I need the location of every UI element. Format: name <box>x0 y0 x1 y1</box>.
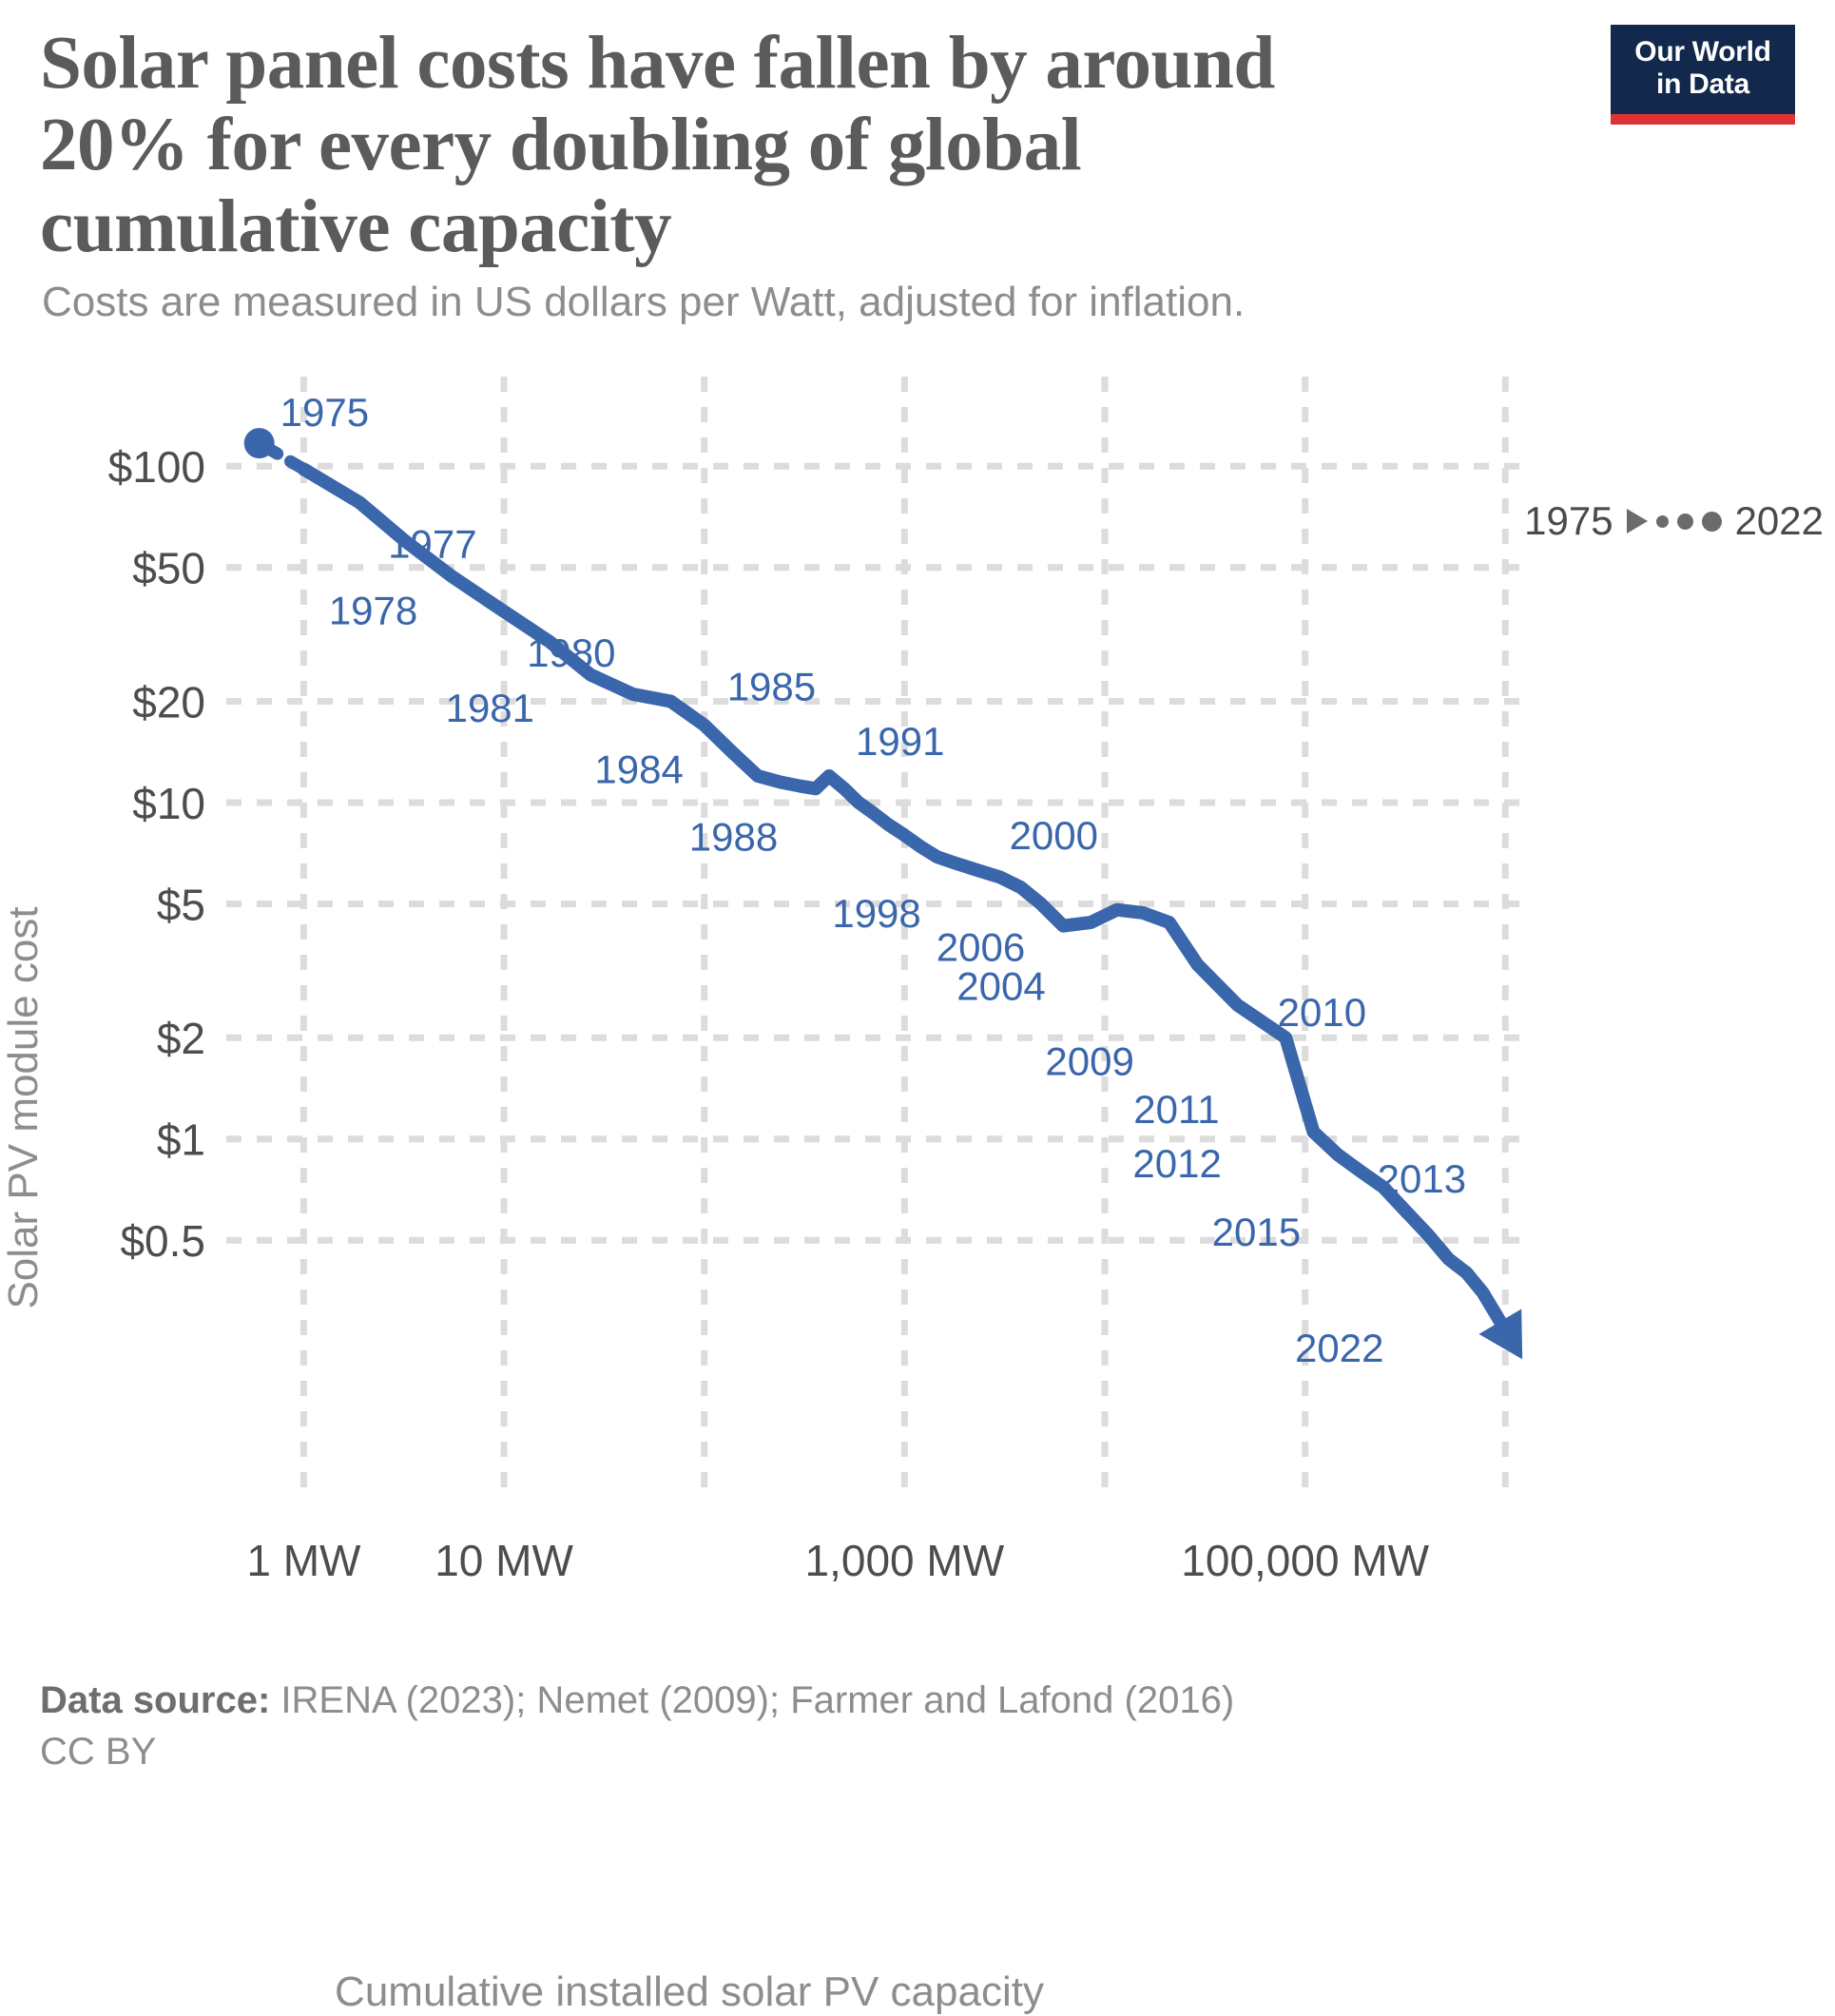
data-point-label: 1981 <box>446 686 534 730</box>
data-point-label: 1984 <box>594 746 683 791</box>
data-source-text: IRENA (2023); Nemet (2009); Farmer and L… <box>270 1679 1234 1721</box>
chart-page: Solar panel costs have fallen by around … <box>0 0 1835 1798</box>
y-tick-label: $2 <box>157 1014 205 1063</box>
data-point-label: 2000 <box>1010 813 1098 858</box>
x-axis-title: Cumulative installed solar PV capacity <box>0 1968 1379 2016</box>
owid-logo[interactable]: Our World in Data <box>1611 25 1795 125</box>
data-point-label: 2015 <box>1212 1210 1301 1254</box>
y-tick-label: $1 <box>157 1115 205 1165</box>
y-tick-label: $5 <box>157 880 205 929</box>
page-title: Solar panel costs have fallen by around … <box>40 23 1438 268</box>
y-tick-label: $100 <box>108 442 205 492</box>
owid-logo-line1: Our World <box>1616 36 1789 68</box>
data-point-label: 1980 <box>527 630 615 675</box>
data-point-label: 1975 <box>280 390 369 435</box>
owid-logo-line2: in Data <box>1616 68 1789 101</box>
x-tick-label: 100,000 MW <box>1181 1536 1429 1585</box>
page-subtitle: Costs are measured in US dollars per Wat… <box>42 278 1468 327</box>
data-point-label: 1998 <box>832 891 920 936</box>
data-point-label: 2011 <box>1133 1087 1219 1132</box>
y-tick-label: $50 <box>132 544 205 593</box>
data-point-label: 1985 <box>727 664 816 708</box>
data-source-label: Data source: <box>40 1679 270 1721</box>
chart-svg: $100$50$20$10$5$2$1$0.51 MW10 MW1,000 MW… <box>0 361 1835 1617</box>
data-point-label: 2006 <box>937 925 1025 970</box>
x-tick-label: 10 MW <box>435 1536 573 1585</box>
x-tick-label: 1,000 MW <box>805 1536 1005 1585</box>
data-source: Data source: IRENA (2023); Nemet (2009);… <box>40 1674 1751 1727</box>
data-point-label: 2009 <box>1045 1038 1133 1083</box>
data-point-label: 1988 <box>689 814 778 859</box>
chart-plot-area: $100$50$20$10$5$2$1$0.51 MW10 MW1,000 MW… <box>0 361 1835 1617</box>
data-point-label: 2022 <box>1295 1326 1383 1370</box>
y-tick-label: $10 <box>132 779 205 828</box>
data-point-label: 1991 <box>856 719 944 764</box>
y-tick-label: $20 <box>132 677 205 727</box>
data-point-label: 2013 <box>1378 1156 1466 1201</box>
data-point-label: 2004 <box>956 964 1045 1009</box>
y-tick-label: $0.5 <box>120 1216 205 1266</box>
license-text: CC BY <box>40 1731 156 1774</box>
data-point-label: 2010 <box>1278 990 1366 1035</box>
data-point-label: 1977 <box>388 521 476 566</box>
owid-logo-red-bar <box>1611 114 1795 125</box>
series-start-dot <box>244 428 275 458</box>
y-axis-title: Solar PV module cost <box>0 746 48 1469</box>
data-point-label: 1978 <box>329 589 417 633</box>
x-tick-label: 1 MW <box>246 1536 361 1585</box>
owid-logo-box: Our World in Data <box>1611 25 1795 114</box>
data-point-label: 2012 <box>1132 1141 1221 1186</box>
